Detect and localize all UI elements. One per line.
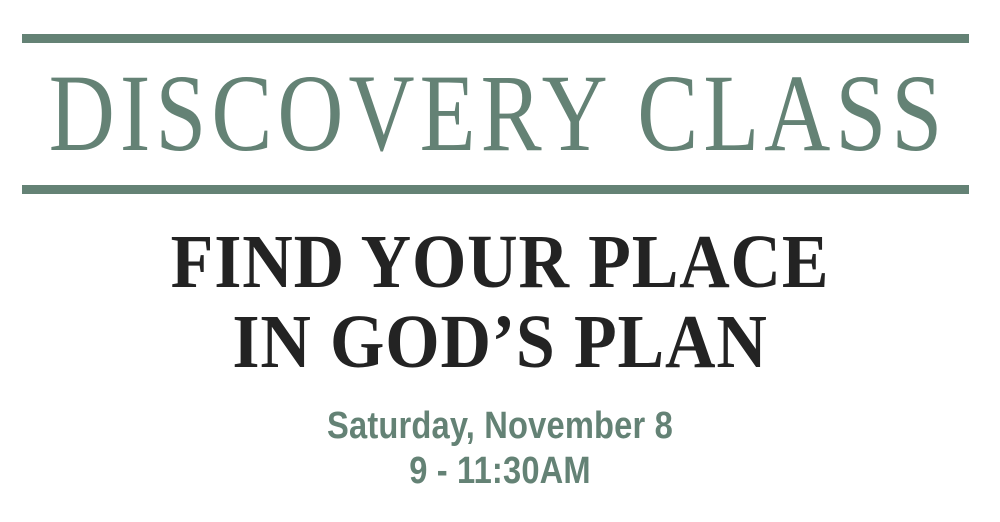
poster-title: DISCOVERY CLASS <box>79 39 912 190</box>
discovery-class-poster: DISCOVERY CLASS FIND YOUR PLACE IN GOD’S… <box>0 0 1000 522</box>
bottom-divider-rule <box>22 185 969 194</box>
title-banner: DISCOVERY CLASS <box>22 34 969 194</box>
event-details-block: Saturday, November 8 9 - 11:30AM <box>0 404 1000 494</box>
event-date: Saturday, November 8 <box>70 404 930 449</box>
headline-block: FIND YOUR PLACE IN GOD’S PLAN <box>0 222 1000 382</box>
headline-line-2: IN GOD’S PLAN <box>40 302 960 382</box>
headline-line-1: FIND YOUR PLACE <box>40 222 960 302</box>
event-time: 9 - 11:30AM <box>70 449 930 494</box>
